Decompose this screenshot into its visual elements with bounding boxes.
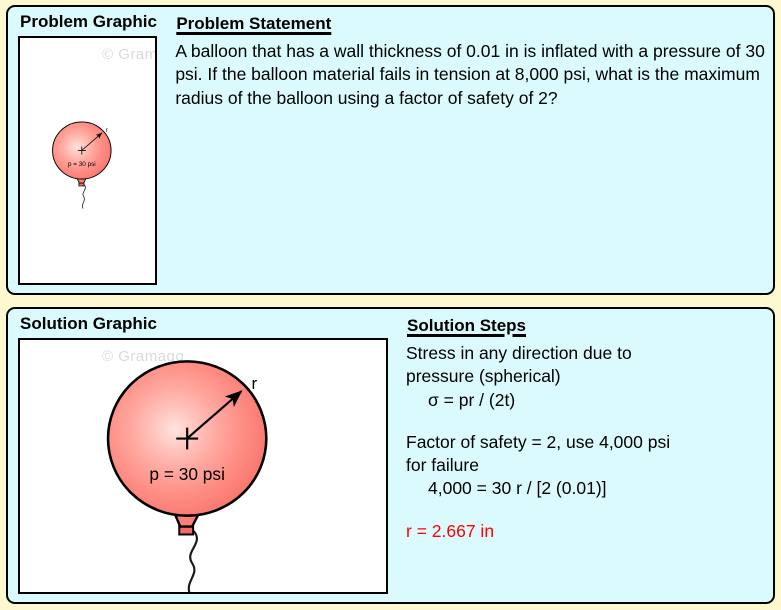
problem-graphic-title: Problem Graphic <box>20 12 157 32</box>
solution-graphic-box: © Gramago <box>18 338 388 594</box>
solution-answer: r = 2.667 in <box>406 520 765 543</box>
solution-graphic-column: Solution Graphic © Gramago <box>8 309 394 602</box>
solution-step-line: pressure (spherical) <box>406 365 765 388</box>
step-spacer <box>406 412 765 431</box>
solution-steps-title: Solution Steps <box>407 316 765 336</box>
problem-statement-text: A balloon that has a wall thickness of 0… <box>175 40 765 110</box>
solution-step-line: Stress in any direction due to <box>406 342 765 365</box>
solution-panel: Solution Graphic © Gramago <box>6 307 775 604</box>
worksheet-page: Problem Graphic © Gramago <box>0 0 781 610</box>
radius-label: r <box>106 127 108 134</box>
balloon-string <box>189 531 197 592</box>
problem-graphic-column: Problem Graphic © Gramago <box>8 7 163 293</box>
solution-step-line: for failure <box>406 454 765 477</box>
balloon-string <box>82 184 85 207</box>
solution-step-equation: σ = pr / (2t) <box>406 389 765 412</box>
problem-statement-title: Problem Statement <box>176 14 765 34</box>
problem-graphic-box: © Gramago <box>18 36 157 285</box>
radius-label: r <box>251 374 257 393</box>
solution-step-equation: 4,000 = 30 r / [2 (0.01)] <box>406 477 765 500</box>
solution-steps-column: Solution Steps Stress in any direction d… <box>394 309 773 602</box>
solution-steps-list: Stress in any direction due to pressure … <box>406 342 765 543</box>
step-spacer <box>406 501 765 520</box>
problem-statement-column: Problem Statement A balloon that has a w… <box>163 7 773 293</box>
balloon-diagram-icon: r p = 30 psi <box>20 38 155 283</box>
solution-step-line: Factor of safety = 2, use 4,000 psi <box>406 431 765 454</box>
problem-panel: Problem Graphic © Gramago <box>6 5 775 295</box>
solution-graphic-title: Solution Graphic <box>20 314 388 334</box>
pressure-label: p = 30 psi <box>68 160 96 167</box>
balloon-diagram-icon: r p = 30 psi <box>20 340 386 592</box>
pressure-label: p = 30 psi <box>149 464 225 484</box>
